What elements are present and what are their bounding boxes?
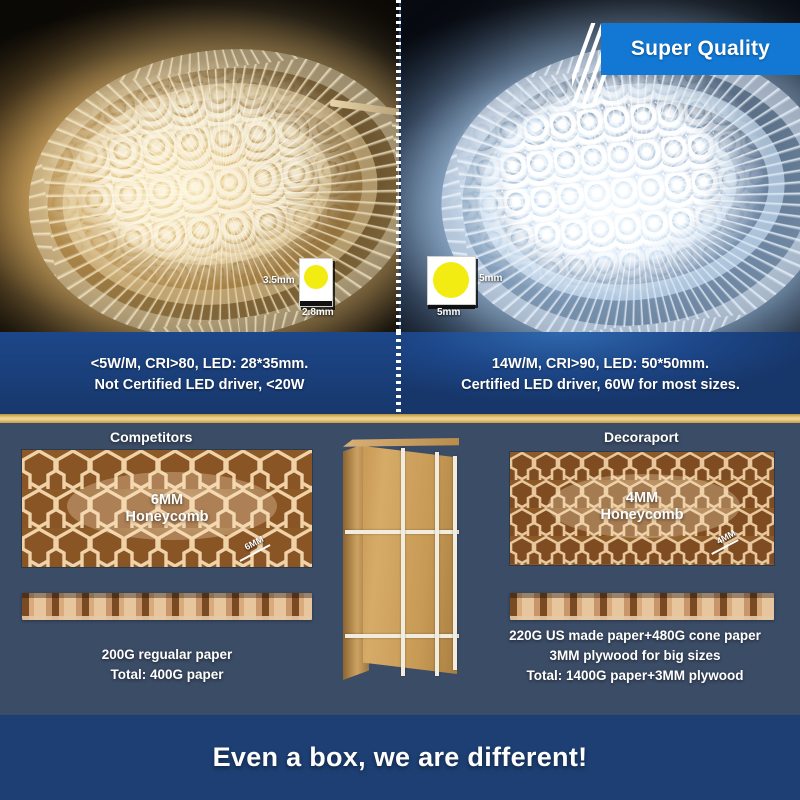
honeycomb-word-decoraport: Honeycomb: [510, 507, 774, 524]
super-quality-banner: Super Quality: [601, 23, 800, 75]
spec-line-competitor-1: <5W/M, CRI>80, LED: 28*35mm.: [91, 356, 309, 372]
honeycomb-panel-competitor: 6MM Honeycomb 6MM: [22, 450, 312, 567]
super-quality-label: Super Quality: [631, 37, 770, 61]
led-chip-width-label-large: 5mm: [437, 307, 460, 318]
led-chip-swatch-large: [427, 256, 476, 305]
caption-decoraport-line-3: Total: 1400G paper+3MM plywood: [470, 666, 800, 686]
corrugated-strip-competitor: [22, 593, 312, 620]
honeycomb-panel-decoraport: 4MM Honeycomb 4MM: [510, 452, 774, 565]
led-chip-width-label-small: 2.8mm: [302, 307, 334, 318]
carton-strap-vertical-2: [435, 452, 439, 676]
led-chip-height-label-small: 3.5mm: [263, 275, 295, 286]
honeycomb-label-decoraport: 4MM Honeycomb: [510, 490, 774, 524]
honeycomb-label-competitor: 6MM Honeycomb: [22, 492, 312, 526]
honeycomb-size-competitor: 6MM: [22, 492, 312, 509]
footer-banner: Even a box, we are different!: [0, 715, 800, 800]
corrugated-strip-decoraport: [510, 593, 774, 620]
led-strip-photo-warm: [0, 0, 399, 332]
product-photo-row: Super Quality 3.5mm 2.8mm 5mm 5mm: [0, 0, 800, 332]
product-comparison-infographic: Super Quality 3.5mm 2.8mm 5mm 5mm <5W/M,…: [0, 0, 800, 800]
spec-block-decoraport: 14W/M, CRI>90, LED: 50*50mm. Certified L…: [401, 332, 800, 416]
caption-decoraport-line-1: 220G US made paper+480G cone paper: [470, 626, 800, 646]
caption-decoraport-line-2: 3MM plywood for big sizes: [470, 646, 800, 666]
photo-divider-dotted: [396, 0, 401, 332]
led-chip-swatch-small: [299, 258, 333, 307]
led-chip-callout-competitor: 3.5mm 2.8mm: [299, 258, 333, 307]
spec-line-decoraport-2: Certified LED driver, 60W for most sizes…: [461, 377, 740, 393]
spec-block-competitor: <5W/M, CRI>80, LED: 28*35mm. Not Certifi…: [0, 332, 399, 416]
carton-strap-vertical-1: [401, 448, 405, 676]
packaging-title-decoraport: Decoraport: [604, 429, 679, 445]
footer-headline: Even a box, we are different!: [213, 742, 588, 773]
carton-front-panel: [363, 446, 457, 674]
caption-competitor-line-1: 200G regualar paper: [22, 645, 312, 665]
led-dots-warm: [0, 18, 399, 332]
spec-line-competitor-2: Not Certified LED driver, <20W: [95, 377, 305, 393]
caption-competitor-line-2: Total: 400G paper: [22, 665, 312, 685]
packaging-title-competitor: Competitors: [110, 429, 192, 445]
shipping-carton-illustration: [337, 438, 465, 686]
honeycomb-size-decoraport: 4MM: [510, 490, 774, 507]
spec-line-decoraport-1: 14W/M, CRI>90, LED: 50*50mm.: [492, 356, 709, 372]
led-chip-callout-decoraport: 5mm 5mm: [427, 256, 476, 305]
honeycomb-word-competitor: Honeycomb: [22, 509, 312, 526]
led-chip-height-label-large: 5mm: [479, 273, 502, 284]
carton-strap-vertical-3: [453, 456, 457, 670]
packaging-caption-decoraport: 220G US made paper+480G cone paper 3MM p…: [470, 626, 800, 686]
packaging-caption-competitor: 200G regualar paper Total: 400G paper: [22, 645, 312, 685]
spec-divider-dotted: [396, 332, 401, 416]
